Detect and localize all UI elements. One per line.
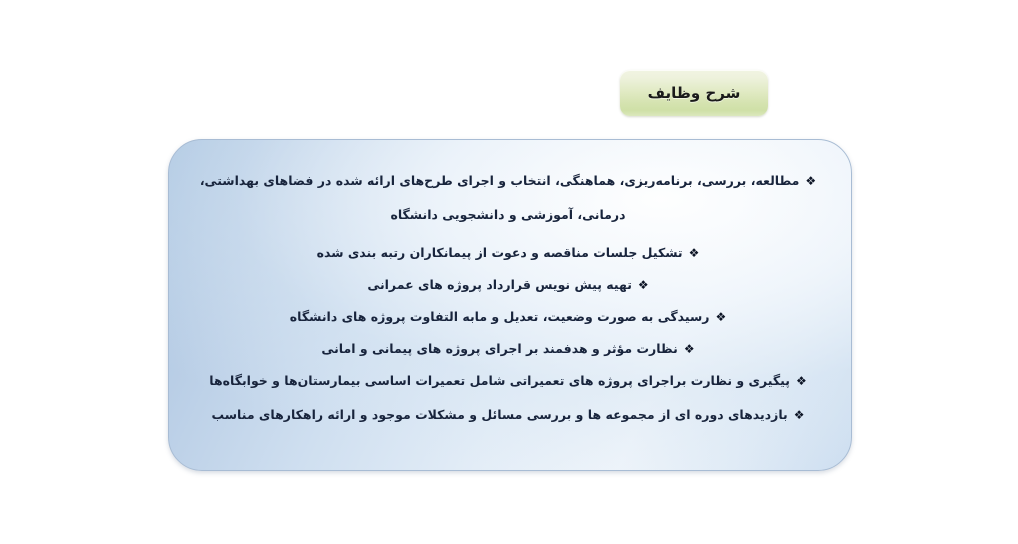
duty-text: تشکیل جلسات مناقصه و دعوت از پیمانکاران … (317, 245, 683, 260)
diamond-bullet-icon: ❖ (689, 239, 700, 268)
diamond-bullet-icon: ❖ (715, 303, 726, 332)
duties-panel: ❖مطالعه، بررسی، برنامه‌ریزی، هماهنگی، ان… (168, 139, 852, 471)
list-item: ❖رسیدگی به صورت وضعیت، تعدیل و مابه التف… (191, 302, 825, 332)
list-item: ❖تشکیل جلسات مناقصه و دعوت از پیمانکاران… (191, 238, 825, 268)
page-title-badge: شرح وظایف (620, 70, 768, 116)
diamond-bullet-icon: ❖ (796, 367, 807, 396)
duty-text: تهیه پیش نویس قرارداد پروژه های عمرانی (367, 277, 632, 292)
list-item: ❖بازدیدهای دوره ای از مجموعه ها و بررسی … (191, 400, 825, 430)
list-item: ❖تهیه پیش نویس قرارداد پروژه های عمرانی (191, 270, 825, 300)
list-item: ❖مطالعه، بررسی، برنامه‌ریزی، هماهنگی، ان… (191, 164, 825, 232)
duty-text: بازدیدهای دوره ای از مجموعه ها و بررسی م… (212, 407, 788, 422)
diamond-bullet-icon: ❖ (684, 335, 695, 364)
duty-text: پیگیری و نظارت براجرای پروژه های تعمیرات… (209, 373, 790, 388)
diamond-bullet-icon: ❖ (794, 401, 805, 430)
duty-text: رسیدگی به صورت وضعیت، تعدیل و مابه التفا… (290, 309, 710, 324)
duty-text: مطالعه، بررسی، برنامه‌ریزی، هماهنگی، انت… (200, 173, 800, 222)
diamond-bullet-icon: ❖ (638, 271, 649, 300)
duty-text: نظارت مؤثر و هدفمند بر اجرای پروژه های پ… (321, 341, 677, 356)
diamond-bullet-icon: ❖ (805, 164, 816, 198)
list-item: ❖نظارت مؤثر و هدفمند بر اجرای پروژه های … (191, 334, 825, 364)
slide-canvas: شرح وظایف ❖مطالعه، بررسی، برنامه‌ریزی، ه… (0, 0, 1018, 544)
duties-list: ❖مطالعه، بررسی، برنامه‌ریزی، هماهنگی، ان… (169, 140, 851, 452)
page-title: شرح وظایف (648, 86, 741, 101)
list-item: ❖پیگیری و نظارت براجرای پروژه های تعمیرا… (191, 366, 825, 396)
